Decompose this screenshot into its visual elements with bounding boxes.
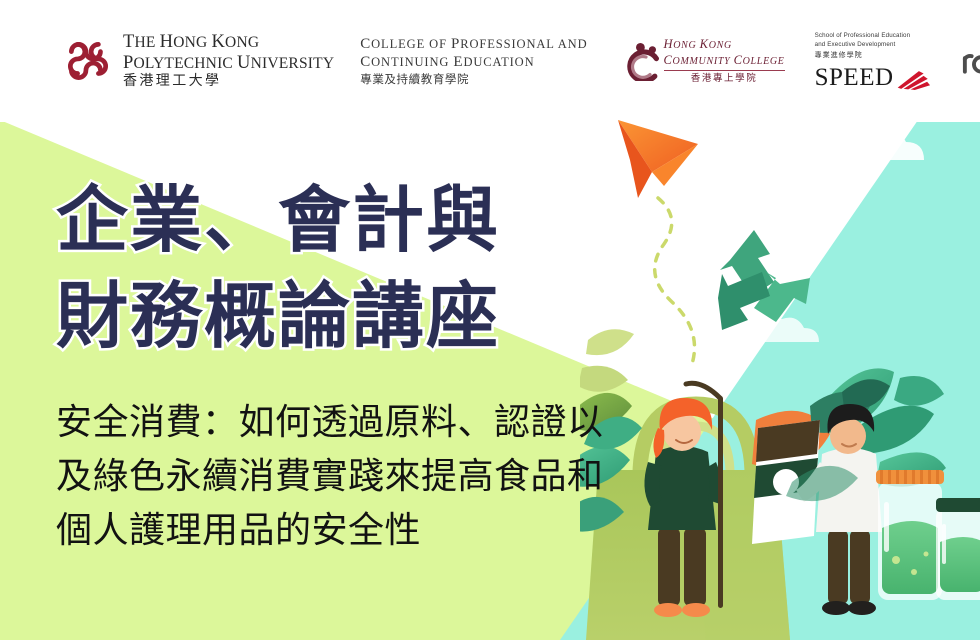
paper-plane-icon bbox=[618, 120, 698, 198]
hkcc-chinese: 香港專上學院 bbox=[664, 73, 785, 85]
polyu-chinese: 香港理工大學 bbox=[123, 74, 334, 90]
poster-canvas: THE HONG KONG POLYTECHNIC UNIVERSITY 香港理… bbox=[0, 0, 980, 640]
headline-line-2: 財務概論講座 bbox=[56, 268, 500, 364]
subtitle-line-2: 及綠色永續消費實踐來提高食品和 bbox=[56, 450, 604, 504]
partner-logo-strip: THE HONG KONG POLYTECHNIC UNIVERSITY 香港理… bbox=[0, 0, 980, 122]
subtitle-line-1: 安全消費：如何透過原料、認證以 bbox=[56, 396, 604, 450]
polyu-line2: POLYTECHNIC UNIVERSITY bbox=[123, 53, 334, 74]
speed-superline2: and Executive Development bbox=[815, 41, 931, 49]
hkcc-line1: HONG KONG bbox=[664, 37, 785, 53]
green-sustainable-shopping-illustration bbox=[580, 110, 980, 640]
glass-jar-small bbox=[936, 498, 980, 600]
cloud-icon bbox=[740, 318, 819, 342]
speed-swoosh-icon bbox=[895, 70, 931, 90]
logo-rcgb: Research Centre for Green Business bbox=[961, 46, 980, 76]
rcgb-wordmark-icon bbox=[961, 46, 980, 76]
hkcc-c-icon bbox=[622, 41, 662, 81]
headline-block: 企業、會計與 財務概論講座 bbox=[56, 172, 500, 364]
cpce-line1: COLLEGE OF PROFESSIONAL AND bbox=[360, 35, 587, 53]
subtitle-block: 安全消費：如何透過原料、認證以 及綠色永續消費實踐來提高食品和 個人護理用品的安… bbox=[56, 396, 604, 558]
speed-wordmark: SPEED bbox=[815, 65, 894, 90]
cloud-icon bbox=[830, 130, 924, 160]
logo-hkcc: HONG KONG COMMUNITY COLLEGE 香港專上學院 bbox=[622, 37, 785, 84]
glass-jar-large bbox=[876, 470, 944, 600]
cpce-line2: CONTINUING EDUCATION bbox=[360, 53, 587, 71]
hkcc-line2: COMMUNITY COLLEGE bbox=[664, 53, 785, 71]
cpce-chinese: 專業及持續教育學院 bbox=[360, 73, 587, 87]
speed-chinese: 專業進修學院 bbox=[815, 50, 931, 60]
headline-line-1: 企業、會計與 bbox=[56, 172, 500, 268]
polyu-knot-icon bbox=[62, 35, 114, 87]
logo-polyu: THE HONG KONG POLYTECHNIC UNIVERSITY 香港理… bbox=[62, 32, 334, 90]
subtitle-line-3: 個人護理用品的安全性 bbox=[56, 504, 604, 558]
speed-superline1: School of Professional Education bbox=[815, 32, 931, 40]
logo-cpce: COLLEGE OF PROFESSIONAL AND CONTINUING E… bbox=[360, 35, 587, 87]
polyu-line1: THE HONG KONG bbox=[123, 32, 334, 53]
logo-speed: School of Professional Education and Exe… bbox=[815, 32, 931, 90]
dashed-trail bbox=[655, 198, 695, 364]
recycle-arrows-icon bbox=[718, 230, 810, 330]
